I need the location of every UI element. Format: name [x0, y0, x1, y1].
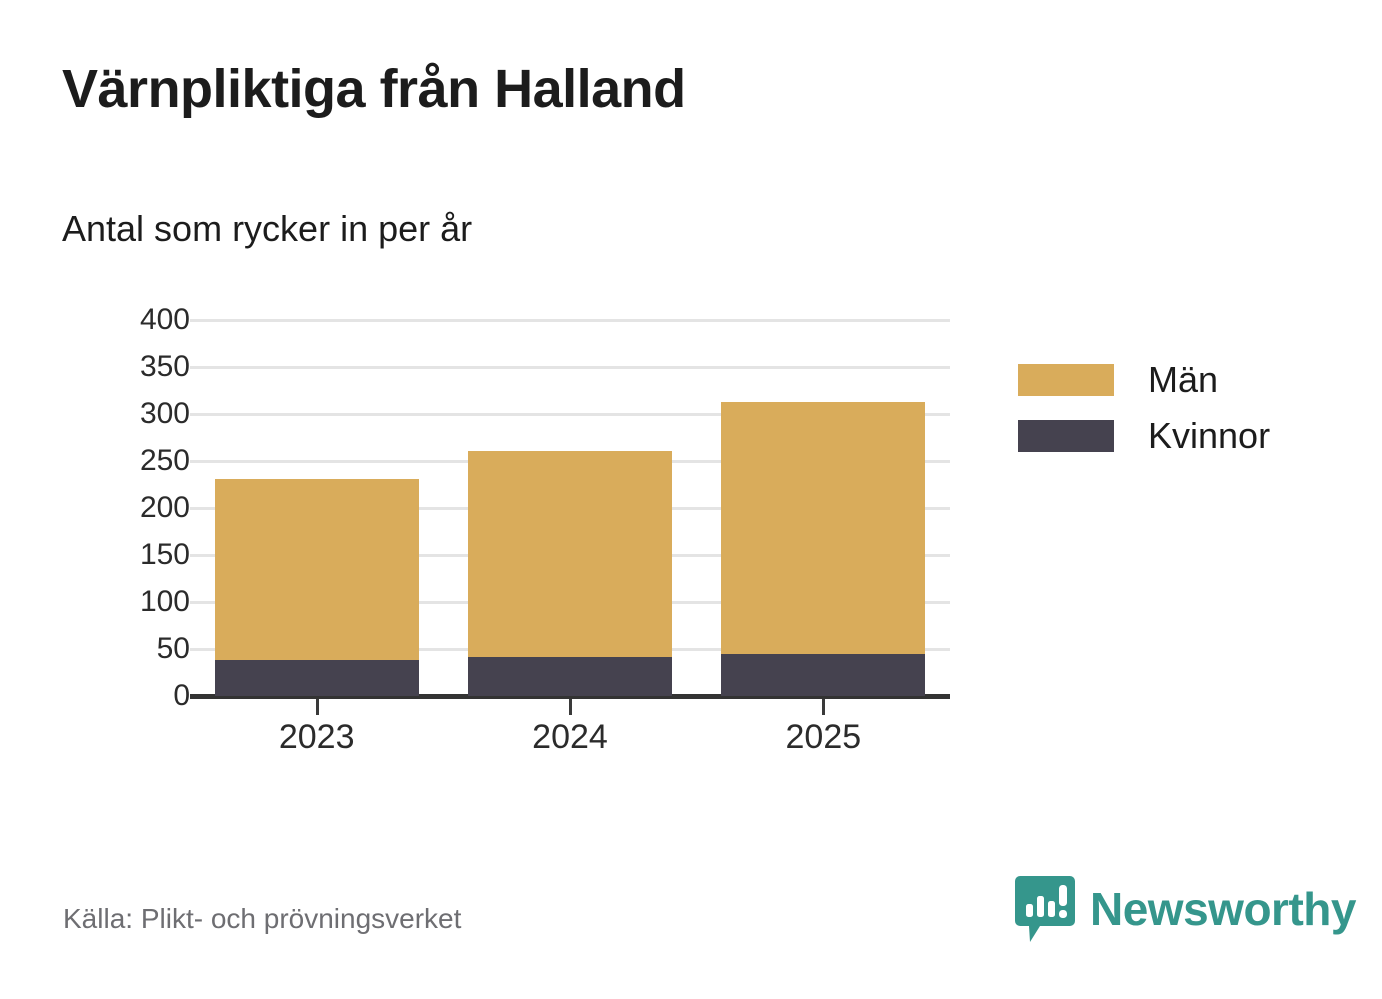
x-axis-tick-label: 2024 [532, 718, 608, 757]
legend-swatch-man [1018, 364, 1114, 396]
y-axis-tick-label: 50 [70, 632, 190, 666]
y-axis-tick-label: 0 [70, 679, 190, 713]
y-axis-tick-label: 400 [70, 303, 190, 337]
x-axis-tick-mark [569, 699, 572, 715]
x-axis-tick-label: 2023 [279, 718, 355, 757]
chart-plot-area: 050100150200250300350400202320242025 [0, 0, 1382, 999]
gridline [190, 319, 950, 322]
bar-segment-man[interactable] [215, 479, 419, 660]
chart-legend: Män Kvinnor [1018, 352, 1270, 464]
legend-label-man: Män [1148, 359, 1218, 401]
y-axis-tick-label: 350 [70, 350, 190, 384]
legend-item-kvinnor[interactable]: Kvinnor [1018, 408, 1270, 464]
legend-swatch-kvinnor [1018, 420, 1114, 452]
source-note: Källa: Plikt- och prövningsverket [63, 903, 461, 935]
newsworthy-logo[interactable]: Newsworthy [1014, 874, 1356, 944]
bar-segment-man[interactable] [721, 402, 925, 654]
newsworthy-bubble-bars-icon [1014, 874, 1076, 944]
x-axis-tick-mark [316, 699, 319, 715]
y-axis-tick-label: 250 [70, 444, 190, 478]
y-axis-tick-label: 300 [70, 397, 190, 431]
bar-stack[interactable] [468, 451, 672, 696]
bar-segment-kvinnor[interactable] [721, 654, 925, 696]
y-axis-tick-label: 200 [70, 491, 190, 525]
bar-segment-man[interactable] [468, 451, 672, 657]
y-axis-tick-label: 150 [70, 538, 190, 572]
x-axis-tick-mark [822, 699, 825, 715]
bar-segment-kvinnor[interactable] [215, 660, 419, 696]
newsworthy-wordmark: Newsworthy [1090, 886, 1356, 932]
legend-item-man[interactable]: Män [1018, 352, 1270, 408]
bar-stack[interactable] [721, 402, 925, 696]
legend-label-kvinnor: Kvinnor [1148, 415, 1270, 457]
x-axis-tick-label: 2025 [786, 718, 862, 757]
bar-segment-kvinnor[interactable] [468, 657, 672, 696]
y-axis-tick-label: 100 [70, 585, 190, 619]
gridline [190, 366, 950, 369]
bar-stack[interactable] [215, 479, 419, 696]
